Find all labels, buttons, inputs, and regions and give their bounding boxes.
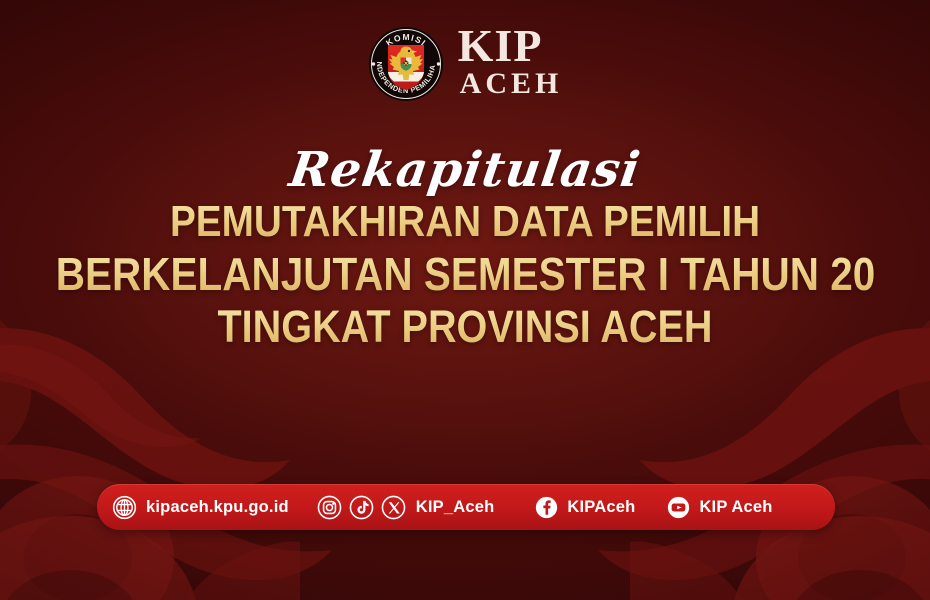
- title-script-rekapitulasi: Rekapitulasi: [0, 146, 930, 194]
- footer-contact-bar: kipaceh.kpu.go.id: [97, 484, 835, 530]
- wordmark-kip: KIP: [458, 25, 563, 67]
- footer-youtube-group[interactable]: KIP Aceh: [665, 494, 772, 520]
- kip-aceh-wordmark: KIP ACEH: [458, 25, 563, 103]
- title-line-1: PEMUTAKHIRAN DATA PEMILIH: [56, 198, 874, 246]
- title-line-3: TINGKAT PROVINSI ACEH: [56, 303, 874, 352]
- youtube-icon[interactable]: [665, 494, 691, 520]
- title-line-2: BERKELANJUTAN SEMESTER I TAHUN 2025: [56, 250, 874, 300]
- footer-social-icons[interactable]: KIP_Aceh: [317, 494, 495, 520]
- poster-title-block: Rekapitulasi PEMUTAKHIRAN DATA PEMILIH B…: [0, 146, 930, 352]
- instagram-icon[interactable]: [317, 494, 343, 520]
- footer-facebook-group[interactable]: KIPAceh: [533, 494, 635, 520]
- brand-logo-block: KOMISI INDEPENDEN PEMILIHAN: [0, 24, 930, 104]
- wordmark-aceh: ACEH: [460, 69, 563, 99]
- tiktok-icon[interactable]: [349, 494, 375, 520]
- facebook-icon[interactable]: [533, 494, 559, 520]
- kpu-emblem-icon: KOMISI INDEPENDEN PEMILIHAN: [368, 24, 444, 104]
- footer-website-group[interactable]: kipaceh.kpu.go.id: [111, 494, 289, 520]
- youtube-handle: KIP Aceh: [699, 498, 772, 517]
- social-handle: KIP_Aceh: [416, 498, 495, 517]
- globe-icon: [111, 494, 137, 520]
- poster-canvas: KOMISI INDEPENDEN PEMILIHAN: [0, 0, 930, 600]
- x-twitter-icon[interactable]: [381, 494, 407, 520]
- website-url: kipaceh.kpu.go.id: [146, 498, 289, 517]
- facebook-handle: KIPAceh: [567, 498, 635, 517]
